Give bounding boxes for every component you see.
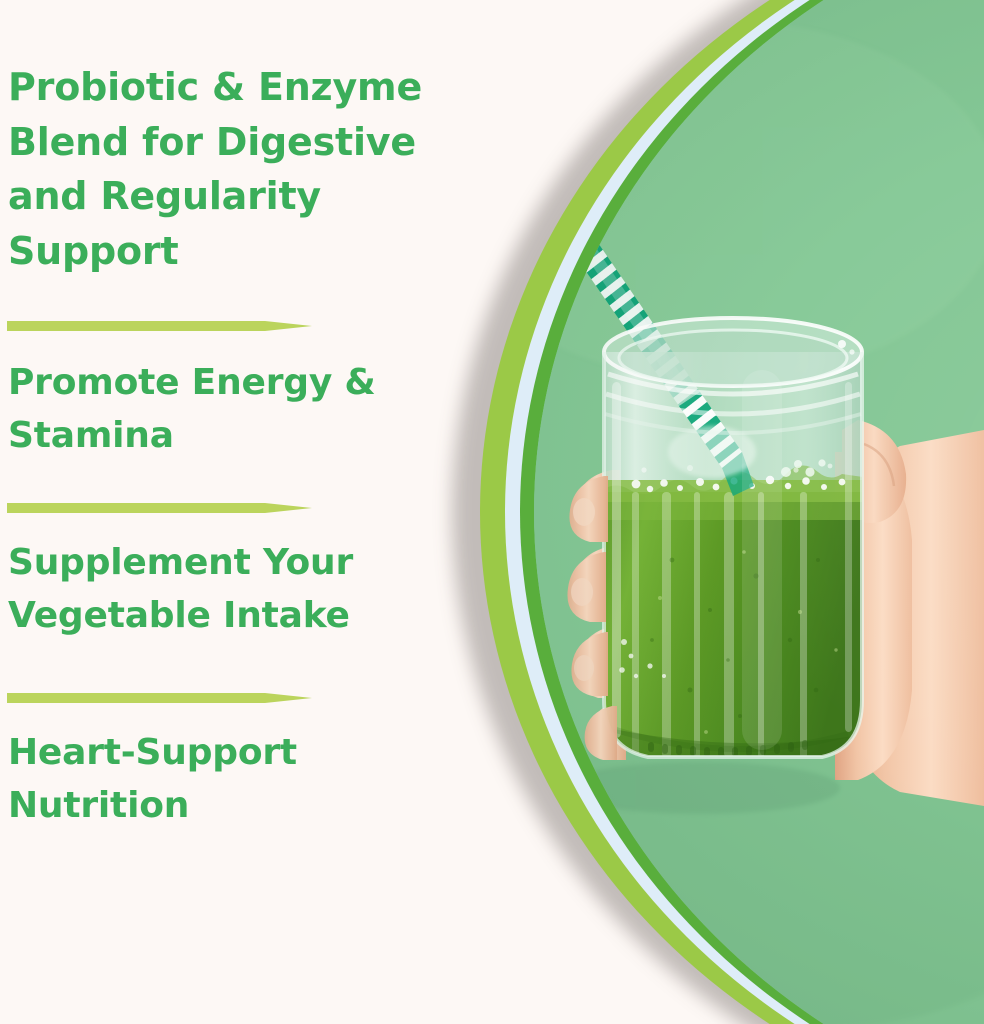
product-photo: [534, 0, 984, 1024]
benefits-column: Probiotic & Enzyme Blend for Digestive a…: [0, 0, 470, 1024]
benefit-item-digestive-support: Probiotic & Enzyme Blend for Digestive a…: [8, 60, 460, 279]
tapered-rule-icon: [7, 692, 312, 704]
benefit-divider-1: [7, 320, 312, 332]
benefit-item-energy-stamina: Promote Energy & Stamina: [8, 357, 460, 462]
benefit-divider-3: [7, 692, 312, 704]
tapered-rule-icon: [7, 320, 312, 332]
tapered-rule-icon: [7, 502, 312, 514]
infographic-canvas: Probiotic & Enzyme Blend for Digestive a…: [0, 0, 984, 1024]
benefit-heading: Promote Energy & Stamina: [8, 357, 460, 462]
benefit-item-vegetable-intake: Supplement Your Vegetable Intake: [8, 537, 460, 642]
benefit-heading: Probiotic & Enzyme Blend for Digestive a…: [8, 60, 460, 279]
benefit-item-heart-support: Heart-Support Nutrition: [8, 727, 460, 832]
benefit-heading: Heart-Support Nutrition: [8, 727, 460, 832]
benefit-divider-2: [7, 502, 312, 514]
photo-vignette: [534, 0, 984, 1024]
benefit-heading: Supplement Your Vegetable Intake: [8, 537, 460, 642]
